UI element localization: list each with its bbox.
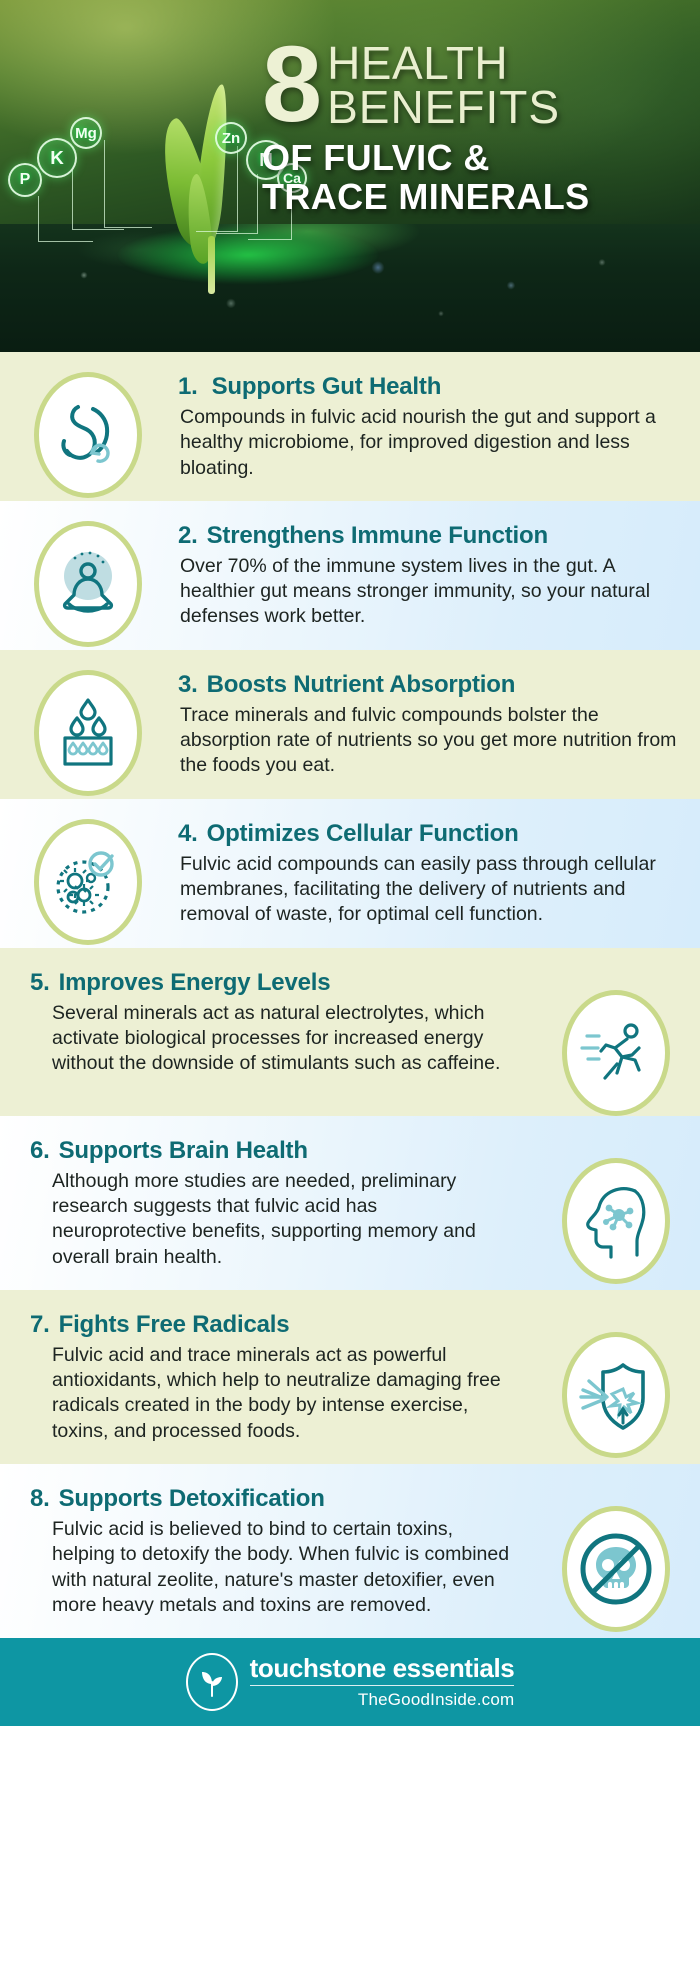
- stomach-icon: [34, 372, 142, 498]
- benefit-body-2: Over 70% of the immune system lives in t…: [178, 554, 682, 630]
- footer-bar: touchstone essentials TheGoodInside.com: [0, 1638, 700, 1726]
- mineral-label: P: [20, 171, 31, 189]
- benefits-list: 1.Supports Gut HealthCompounds in fulvic…: [0, 352, 700, 1638]
- hero-title-block: 8 HEALTH BENEFITS OF FULVIC & TRACE MINE…: [262, 38, 686, 216]
- benefit-body-6: Although more studies are needed, prelim…: [30, 1169, 514, 1270]
- brand-name: touchstone essentials: [250, 1655, 515, 1686]
- benefit-body-8: Fulvic acid is believed to bind to certa…: [30, 1517, 514, 1618]
- benefit-number-7: 7.: [30, 1312, 50, 1339]
- benefit-title-text-3: Boosts Nutrient Absorption: [207, 672, 516, 699]
- mineral-bubble-p: P: [8, 163, 42, 197]
- benefit-title-8: 8.Supports Detoxification: [30, 1486, 514, 1513]
- mineral-label: Mg: [75, 125, 97, 142]
- benefit-title-text-6: Supports Brain Health: [59, 1138, 308, 1165]
- benefit-title-text-8: Supports Detoxification: [59, 1486, 325, 1513]
- cell-check-icon: [34, 819, 142, 945]
- benefit-number-4: 4.: [178, 821, 198, 848]
- benefit-icon-cell-2: [0, 501, 176, 647]
- benefit-title-text-7: Fights Free Radicals: [59, 1312, 290, 1339]
- mineral-bubble-zn: Zn: [215, 122, 247, 154]
- benefit-body-4: Fulvic acid compounds can easily pass th…: [178, 852, 682, 928]
- benefit-title-3: 3.Boosts Nutrient Absorption: [178, 672, 682, 699]
- benefit-number-3: 3.: [178, 672, 198, 699]
- benefit-text-cell-6: 6.Supports Brain HealthAlthough more stu…: [0, 1116, 532, 1290]
- hero-title-line-2: BENEFITS: [327, 85, 560, 129]
- meditation-icon: [34, 521, 142, 647]
- benefit-row-4: 4.Optimizes Cellular FunctionFulvic acid…: [0, 799, 700, 948]
- benefit-title-text-1: Supports Gut Health: [212, 374, 442, 401]
- mineral-label: Zn: [222, 130, 240, 147]
- benefit-icon-cell-4: [0, 799, 176, 945]
- benefit-title-1: 1.Supports Gut Health: [178, 374, 682, 401]
- benefit-text-cell-5: 5.Improves Energy LevelsSeveral minerals…: [0, 948, 532, 1097]
- benefit-number-5: 5.: [30, 970, 50, 997]
- hero-title-line-3: OF FULVIC &: [262, 139, 686, 178]
- benefit-row-6: 6.Supports Brain HealthAlthough more stu…: [0, 1116, 700, 1290]
- hero-count-number: 8: [262, 34, 318, 133]
- no-toxins-skull-icon: [562, 1506, 670, 1632]
- brain-head-icon: [562, 1158, 670, 1284]
- benefit-icon-cell-8: [532, 1464, 700, 1632]
- benefit-title-text-4: Optimizes Cellular Function: [207, 821, 519, 848]
- benefit-body-5: Several minerals act as natural electrol…: [30, 1001, 514, 1077]
- runner-icon: [562, 990, 670, 1116]
- infographic-root: PKMgZnNCa 8 HEALTH BENEFITS OF FULVIC & …: [0, 0, 700, 1980]
- benefit-number-2: 2.: [178, 523, 198, 550]
- hero-title-line-1: HEALTH: [327, 41, 560, 85]
- benefit-text-cell-2: 2.Strengthens Immune FunctionOver 70% of…: [176, 501, 700, 650]
- benefit-row-2: 2.Strengthens Immune FunctionOver 70% of…: [0, 501, 700, 650]
- hero-banner: PKMgZnNCa 8 HEALTH BENEFITS OF FULVIC & …: [0, 0, 700, 352]
- benefit-icon-cell-6: [532, 1116, 700, 1284]
- benefit-number-6: 6.: [30, 1138, 50, 1165]
- mineral-label: K: [50, 147, 64, 169]
- absorption-droplets-icon: [34, 670, 142, 796]
- benefit-title-6: 6.Supports Brain Health: [30, 1138, 514, 1165]
- benefit-row-7: 7.Fights Free RadicalsFulvic acid and tr…: [0, 1290, 700, 1464]
- benefit-icon-cell-3: [0, 650, 176, 796]
- benefit-title-text-5: Improves Energy Levels: [59, 970, 331, 997]
- benefit-icon-cell-5: [532, 948, 700, 1116]
- benefit-title-7: 7.Fights Free Radicals: [30, 1312, 514, 1339]
- benefit-icon-cell-7: [532, 1290, 700, 1458]
- benefit-text-cell-7: 7.Fights Free RadicalsFulvic acid and tr…: [0, 1290, 532, 1464]
- benefit-text-cell-4: 4.Optimizes Cellular FunctionFulvic acid…: [176, 799, 700, 948]
- benefit-title-5: 5.Improves Energy Levels: [30, 970, 514, 997]
- brand-url[interactable]: TheGoodInside.com: [250, 1686, 515, 1710]
- mineral-bubble-k: K: [37, 138, 77, 178]
- benefit-number-1: 1.: [178, 374, 198, 401]
- benefit-body-7: Fulvic acid and trace minerals act as po…: [30, 1343, 514, 1444]
- benefit-title-text-2: Strengthens Immune Function: [207, 523, 548, 550]
- benefit-row-3: 3.Boosts Nutrient AbsorptionTrace minera…: [0, 650, 700, 799]
- benefit-icon-cell-1: [0, 352, 176, 498]
- benefit-title-4: 4.Optimizes Cellular Function: [178, 821, 682, 848]
- sprout-circle-icon: [186, 1653, 238, 1711]
- stem: [208, 236, 215, 294]
- benefit-body-3: Trace minerals and fulvic compounds bols…: [178, 703, 682, 779]
- benefit-body-1: Compounds in fulvic acid nourish the gut…: [178, 405, 682, 481]
- hero-title-line-4: TRACE MINERALS: [262, 178, 686, 217]
- benefit-title-2: 2.Strengthens Immune Function: [178, 523, 682, 550]
- benefit-number-8: 8.: [30, 1486, 50, 1513]
- footer-text-block: touchstone essentials TheGoodInside.com: [250, 1655, 515, 1710]
- benefit-text-cell-1: 1.Supports Gut HealthCompounds in fulvic…: [176, 352, 700, 501]
- shield-icon: [562, 1332, 670, 1458]
- benefit-row-1: 1.Supports Gut HealthCompounds in fulvic…: [0, 352, 700, 501]
- benefit-text-cell-8: 8.Supports DetoxificationFulvic acid is …: [0, 1464, 532, 1638]
- benefit-row-5: 5.Improves Energy LevelsSeveral minerals…: [0, 948, 700, 1116]
- benefit-row-8: 8.Supports DetoxificationFulvic acid is …: [0, 1464, 700, 1638]
- mineral-bubble-mg: Mg: [70, 117, 102, 149]
- benefit-text-cell-3: 3.Boosts Nutrient AbsorptionTrace minera…: [176, 650, 700, 799]
- mineral-connector-3: [104, 140, 152, 228]
